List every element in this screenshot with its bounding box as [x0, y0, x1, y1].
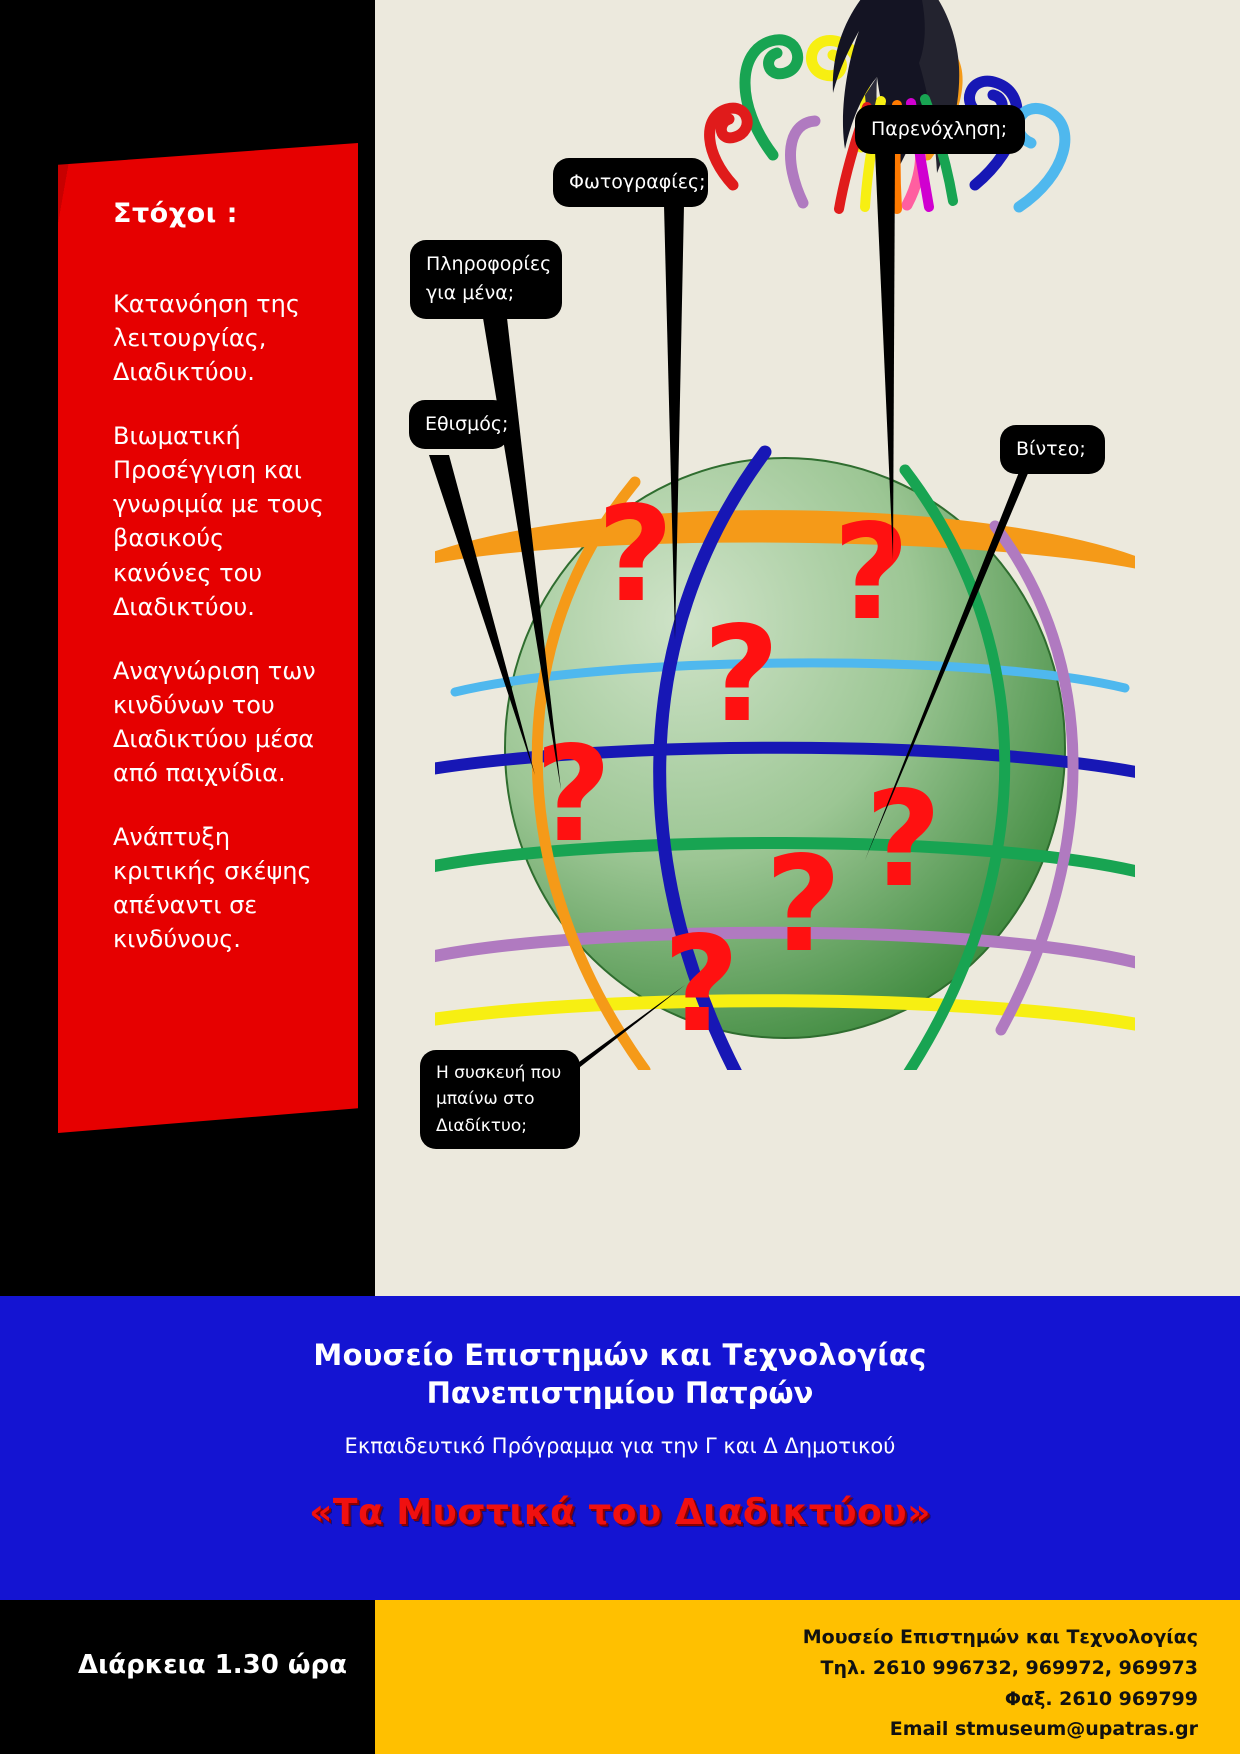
contact-email[interactable]: Email stmuseum@upatras.gr [375, 1714, 1198, 1745]
poster-root: ? ? ? ? ? ? ? [0, 0, 1240, 1754]
contact-fax: Φαξ. 2610 969799 [375, 1684, 1198, 1715]
objectives-title: Στόχοι : [113, 198, 330, 229]
objective-item-2: Βιωματική Προσέγγιση και γνωριμία με του… [113, 419, 330, 623]
organization-line-2: Πανεπιστημίου Πατρών [0, 1376, 1240, 1410]
bubble-my-info[interactable]: Πληροφορίες για μένα; [410, 240, 562, 319]
objective-item-3: Αναγνώριση των κινδύνων του Διαδικτύου μ… [113, 654, 330, 790]
contact-box: Μουσείο Επιστημών και Τεχνολογίας Τηλ. 2… [375, 1600, 1240, 1754]
objectives-card: Στόχοι : Κατανόηση της λειτουργίας, Διαδ… [58, 143, 358, 1133]
duration-label: Διάρκεια 1.30 ώρα [78, 1650, 347, 1680]
bubble-video[interactable]: Βίντεο; [1000, 425, 1105, 474]
bubble-harassment[interactable]: Παρενόχληση; [855, 105, 1025, 154]
bubble-addiction[interactable]: Εθισμός; [409, 400, 509, 449]
contact-phone: Τηλ. 2610 996732, 969972, 969973 [375, 1653, 1198, 1684]
organization-band: Μουσείο Επιστημών και Τεχνολογίας Πανεπι… [0, 1296, 1240, 1600]
program-subtitle: Εκπαιδευτικό Πρόγραμμα για την Γ και Δ Δ… [0, 1434, 1240, 1458]
objective-item-1: Κατανόηση της λειτουργίας, Διαδικτύου. [113, 287, 330, 389]
bubble-photos[interactable]: Φωτογραφίες; [553, 158, 708, 207]
artwork-panel: ? ? ? ? ? ? ? [375, 0, 1240, 1296]
bubble-device[interactable]: Η συσκευή που μπαίνω στο Διαδίκτυο; [420, 1050, 580, 1149]
contact-org: Μουσείο Επιστημών και Τεχνολογίας [375, 1622, 1198, 1653]
organization-line-1: Μουσείο Επιστημών και Τεχνολογίας [0, 1296, 1240, 1372]
program-title: «Τα Μυστικά του Διαδικτύου» [0, 1492, 1240, 1533]
objective-item-4: Ανάπτυξη κριτικής σκέψης απέναντι σε κιν… [113, 820, 330, 956]
